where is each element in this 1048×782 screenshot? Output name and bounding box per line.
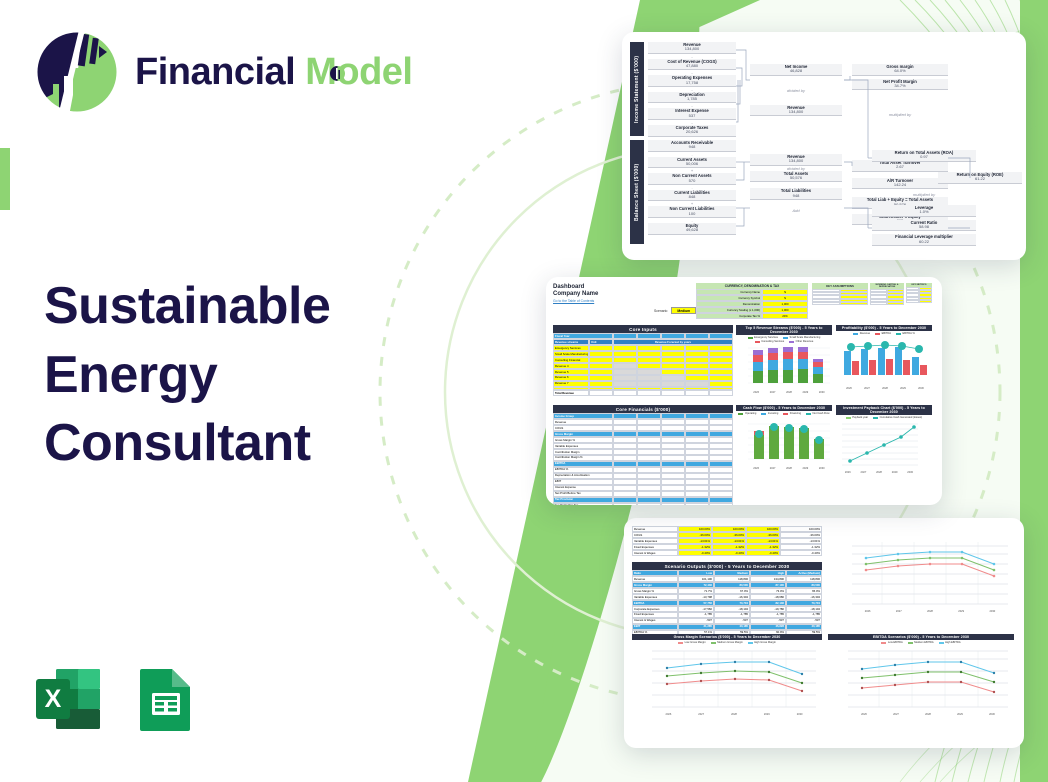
operator-multiplied-by: multiplied by bbox=[852, 90, 948, 139]
chart-legend: Revenue EBITDA EBITDA % bbox=[836, 331, 932, 336]
node-total-liabilities: Total Liabilities948 bbox=[750, 188, 842, 200]
bar-line-svg bbox=[840, 337, 930, 387]
node-net-income: Net Income46,828 bbox=[750, 64, 842, 76]
svg-text:X: X bbox=[45, 685, 62, 713]
chart-x-labels: 20262027 20282029 2030 bbox=[852, 610, 1008, 613]
chart-legend: Payback year Cumulative Cash Generated (… bbox=[836, 415, 932, 420]
working-capital-panel: WORKING CAPITAL & DEPRECIATION bbox=[870, 283, 904, 305]
node-leverage: Leverage1.0% bbox=[872, 205, 976, 217]
chart-legend-2: Consulting Services Other Revenue bbox=[736, 340, 832, 344]
left-content-column: Financial Model Sustainable Energy Consu… bbox=[0, 0, 470, 782]
chart-x-labels: 20262027 20282029 2030 bbox=[840, 387, 930, 390]
node-net-profit-margin: Net Profit Margin34.7% bbox=[852, 79, 948, 91]
gross-margin-svg bbox=[652, 647, 816, 713]
node-interest-expense: Interest Expense537 bbox=[648, 108, 736, 120]
node-financial-leverage-multiplier: Financial Leverage multiplier60.22 bbox=[872, 234, 976, 246]
chart-investment-payback: Investment Payback Chart ($'000) - 5 Yea… bbox=[836, 405, 932, 481]
operator-divided-by: divided by bbox=[750, 76, 842, 105]
chart-title: Investment Payback Chart ($'000) - 5 Yea… bbox=[836, 405, 932, 415]
node-revenue-assets: Revenue134,800 bbox=[750, 154, 842, 166]
node-total-assets: Total Assets50,576 bbox=[750, 171, 842, 183]
financial-model-circle-logo bbox=[33, 28, 121, 116]
chart-legend: Low EBITDA Medium EBITDA High EBITDA bbox=[828, 640, 1014, 645]
cashflow-bar-svg bbox=[748, 417, 830, 467]
core-inputs-title: Core Inputs bbox=[553, 325, 733, 333]
assumption-high[interactable]: -0.40% bbox=[746, 550, 780, 556]
chart-legend: Operating Investing Financing Net Cash F… bbox=[736, 411, 832, 416]
scenario-label: Scenario bbox=[654, 309, 667, 313]
chart-profitability: Profitability ($'000) - 5 Years to Decem… bbox=[836, 325, 932, 399]
assumption-med[interactable]: -0.40% bbox=[712, 550, 746, 556]
scenario-analysis-card[interactable]: Revenue100.00%100.00%100.00%100.00% COGS… bbox=[624, 518, 1024, 748]
dashboard-card[interactable]: Dashboard Company Name Go to the Table o… bbox=[546, 277, 942, 505]
key-metrics-panel: KEY METRICS bbox=[906, 283, 932, 303]
assumption-key: Interest & Wages bbox=[632, 550, 678, 556]
node-return-on-total-assets: Return on Total Assets (ROA)0.97 bbox=[872, 150, 976, 162]
chart-x-labels: 20262027 20282029 2030 bbox=[652, 713, 816, 716]
income-statement-tab: Income Statement ($'000) bbox=[630, 42, 644, 136]
brand-accent-icon bbox=[330, 65, 345, 82]
node-non-current-liabilities: Non Current Liabilities100 bbox=[648, 206, 736, 218]
brand-logo[interactable]: Financial Model bbox=[33, 28, 413, 116]
node-current-liabilities: Current Liabilities848 bbox=[648, 190, 736, 202]
node-opex: Operating Expenses17,758 bbox=[648, 75, 736, 87]
stacked-bar-svg bbox=[748, 345, 830, 391]
excel-icon[interactable]: X bbox=[34, 665, 102, 733]
headline-line-3: Consultant bbox=[44, 409, 330, 478]
node-non-current-assets: Non Current Assets570 bbox=[648, 173, 736, 185]
core-financials-table: Core Financials ($'000) Income Group Rev… bbox=[553, 405, 733, 505]
chart-title: Top 5 Revenue Streams ($'000) - 5 Years … bbox=[736, 325, 832, 335]
node-accounts-receivable: Accounts Receivable948 bbox=[648, 140, 736, 152]
node-depreciation: Depreciation1,785 bbox=[648, 92, 736, 104]
payback-line-svg bbox=[840, 421, 918, 471]
row-key: Corporate Tax % bbox=[696, 313, 762, 319]
format-badges: X bbox=[34, 665, 200, 733]
ebitda-svg bbox=[848, 647, 1008, 713]
brand-name-part2: Model bbox=[305, 53, 412, 91]
row-value[interactable]: 20% bbox=[762, 313, 808, 319]
chart-ebitda-scenarios: EBITDA Scenarios ($'000) - 5 Years to De… bbox=[828, 634, 1014, 734]
node-total-asset-turnover: Total Asset Turnover2.67 bbox=[852, 160, 948, 172]
operator-add: Add bbox=[750, 200, 842, 221]
core-inputs-table: Core Inputs Fiscal Year Revenue streamsU… bbox=[553, 325, 733, 396]
node-equity: Equity49,628 bbox=[648, 223, 736, 235]
balance-sheet-tab: Balance Sheet ($'000) bbox=[630, 140, 644, 244]
key-assumptions-panel: KEY ASSUMPTIONS bbox=[812, 283, 868, 305]
chart-x-labels: 20262027 20282029 2030 bbox=[748, 391, 830, 394]
node-cogs: Cost of Revenue (COGS)47,880 bbox=[648, 59, 736, 71]
node-gross-margin: Gross margin64.0% bbox=[852, 64, 948, 76]
scenario-assumptions-table: Revenue100.00%100.00%100.00%100.00% COGS… bbox=[632, 526, 822, 556]
dashboard-title-line1: Dashboard bbox=[553, 284, 673, 291]
toc-link[interactable]: Go to the Table of Contents bbox=[553, 299, 673, 303]
brand-name-part1: Financial bbox=[135, 53, 295, 91]
node-ar-turnover: A/R Turnover142.24 bbox=[852, 178, 948, 190]
total-revenue-label: Total Revenue bbox=[553, 390, 589, 396]
chart-gross-margin-scenarios: Gross Margin Scenarios ($'000) - 5 Years… bbox=[632, 634, 822, 734]
revenue-scenarios-svg bbox=[852, 538, 1008, 610]
assumption-low[interactable]: -0.40% bbox=[678, 550, 712, 556]
chart-top5-revenue: Top 5 Revenue Streams ($'000) - 5 Years … bbox=[736, 325, 832, 399]
chart-revenue-scenarios: 20262027 20282029 2030 bbox=[830, 536, 1012, 630]
node-return-on-equity: Return on Equity (ROE)61.22 bbox=[938, 172, 1022, 184]
currency-panel: CURRENCY, DENOMINATION & TAX Currency Na… bbox=[696, 283, 808, 319]
chart-x-labels: 20262027 20282029 2030 bbox=[748, 467, 830, 470]
node-corporate-taxes: Corporate Taxes20,626 bbox=[648, 125, 736, 137]
node-current-assets: Current Assets50,006 bbox=[648, 157, 736, 169]
chart-legend: Low Gross Margin Medium Gross Margin Hig… bbox=[632, 640, 822, 645]
google-sheets-icon[interactable] bbox=[132, 665, 200, 733]
scenario-outputs-title: Scenario Outputs ($'000) - 5 Years to De… bbox=[632, 562, 822, 570]
page-title: Sustainable Energy Consultant bbox=[44, 272, 330, 478]
dashboard-title-line2: Company Name bbox=[553, 291, 673, 298]
scenario-outputs-table: Scenario Outputs ($'000) - 5 Years to De… bbox=[632, 562, 822, 636]
headline-line-2: Energy bbox=[44, 341, 330, 410]
node-revenue: Revenue134,800 bbox=[648, 42, 736, 54]
chart-x-labels: 20262027 20282029 2030 bbox=[848, 713, 1008, 716]
dupont-ratio-diagram-card[interactable]: Income Statement ($'000) Balance Sheet (… bbox=[622, 32, 1026, 260]
brand-wordmark: Financial Model bbox=[135, 53, 413, 91]
headline-line-1: Sustainable bbox=[44, 272, 330, 341]
chart-cash-flow: Cash Flow ($'000) - 5 Years to December … bbox=[736, 405, 832, 481]
chart-x-labels: 20262027 20282029 2030 bbox=[840, 471, 918, 474]
scenario-select[interactable]: Medium bbox=[671, 307, 696, 314]
core-financials-title: Core Financials ($'000) bbox=[553, 405, 733, 413]
node-revenue-denominator: Revenue134,800 bbox=[750, 105, 842, 117]
node-current-ratio: Current Ratio58.98 bbox=[872, 220, 976, 232]
